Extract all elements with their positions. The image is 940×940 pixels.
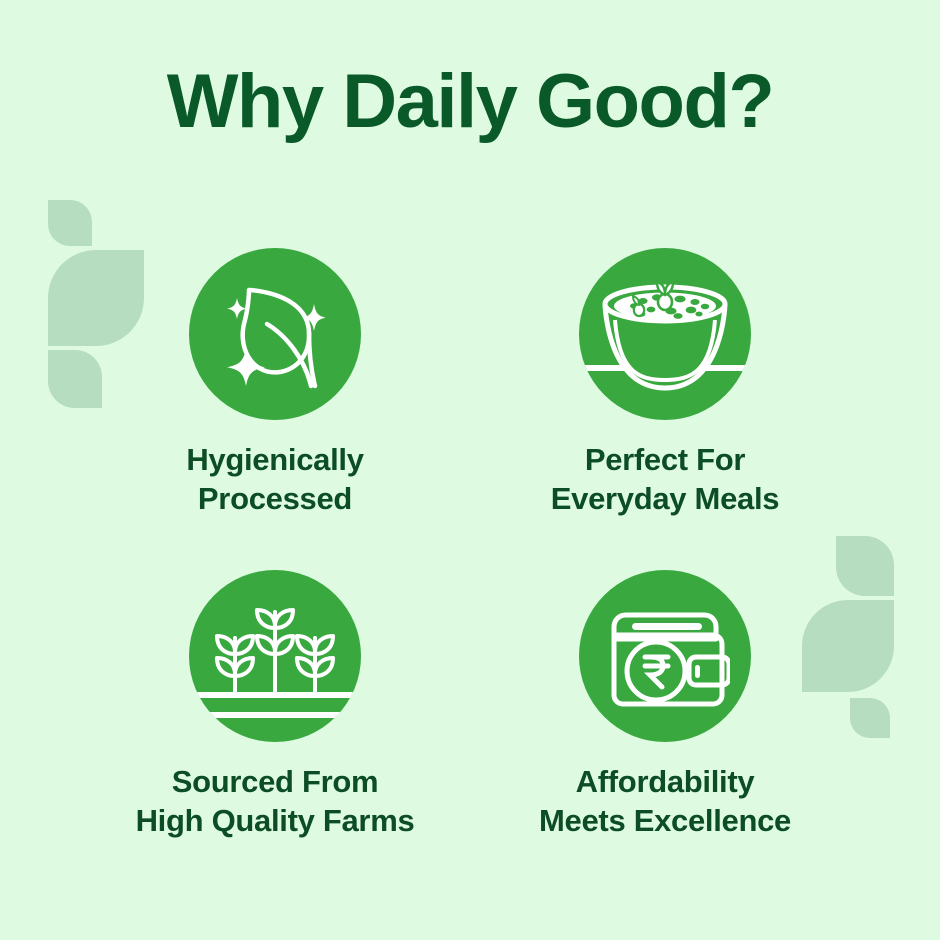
feature-label: Hygienically Processed bbox=[186, 440, 363, 518]
feature-icon-badge bbox=[189, 248, 361, 420]
crop-field-icon bbox=[189, 570, 361, 742]
feature-row: Hygienically Processed bbox=[80, 248, 860, 518]
feature-sourced-from-high-quality-farms: Sourced From High Quality Farms bbox=[80, 570, 470, 840]
feature-hygienically-processed: Hygienically Processed bbox=[80, 248, 470, 518]
feature-label: Affordability Meets Excellence bbox=[539, 762, 791, 840]
feature-icon-badge bbox=[579, 570, 751, 742]
feature-icon-badge bbox=[579, 248, 751, 420]
wallet-rupee-icon bbox=[600, 591, 730, 721]
feature-row: Sourced From High Quality Farms bbox=[80, 570, 860, 840]
why-daily-good-poster: Why Daily Good? bbox=[0, 0, 940, 940]
feature-affordability-meets-excellence: Affordability Meets Excellence bbox=[470, 570, 860, 840]
feature-icon-badge bbox=[189, 570, 361, 742]
feature-perfect-for-everyday-meals: Perfect For Everyday Meals bbox=[470, 248, 860, 518]
feature-label: Sourced From High Quality Farms bbox=[136, 762, 415, 840]
leaf-shape-small-top bbox=[48, 200, 92, 246]
feature-label: Perfect For Everyday Meals bbox=[551, 440, 779, 518]
soup-bowl-icon bbox=[579, 248, 751, 420]
leaf-sparkle-icon bbox=[215, 274, 335, 394]
page-title: Why Daily Good? bbox=[0, 64, 940, 140]
feature-grid: Hygienically Processed bbox=[80, 248, 860, 840]
